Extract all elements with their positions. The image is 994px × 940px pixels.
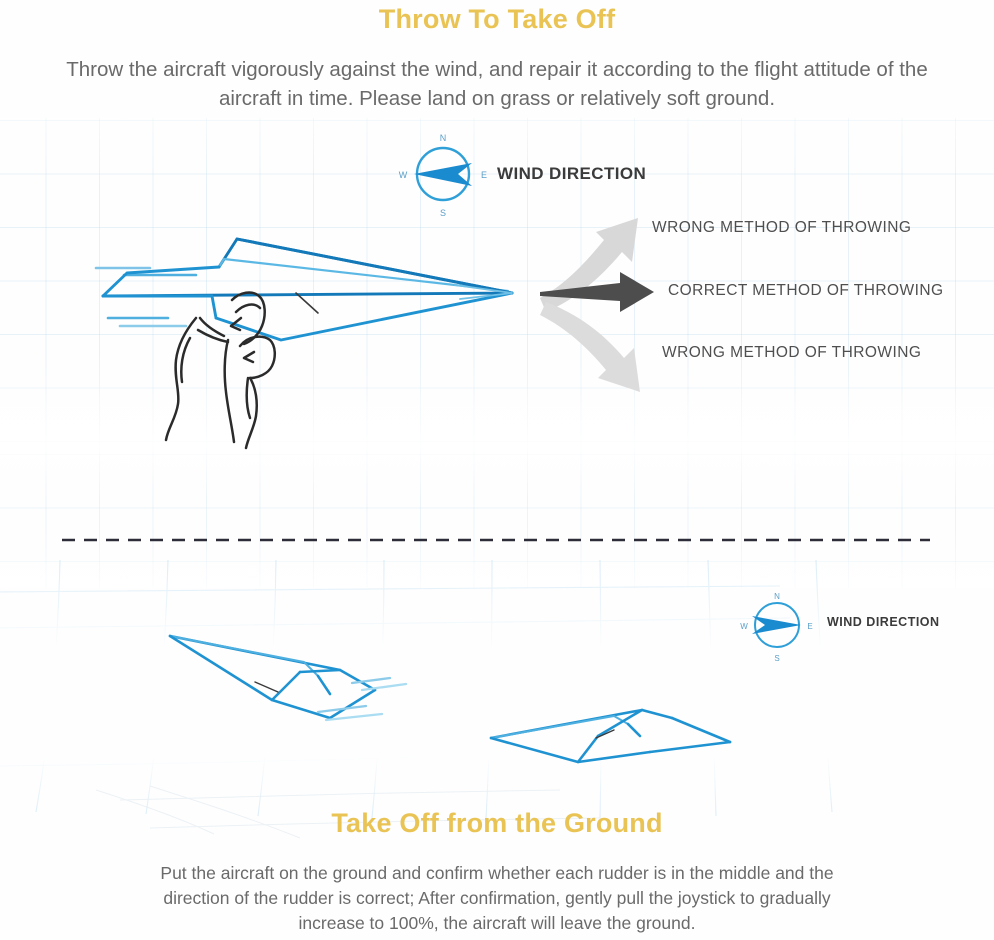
compass-south-label-top: S <box>440 208 446 218</box>
compass-needle-west <box>414 163 472 186</box>
compass-circle-bottom <box>755 603 799 647</box>
background-grid-middle <box>0 448 994 588</box>
wrong-method-label-lower: WRONG METHOD OF THROWING <box>662 344 921 362</box>
compass-needle-east <box>752 616 801 634</box>
ground-takeoff-instruction-paragraph: Put the aircraft on the ground and confi… <box>0 861 994 936</box>
page-title-throw-to-take-off: Throw To Take Off <box>0 4 994 35</box>
paper-plane-climbing <box>170 636 406 720</box>
arrow-straight <box>540 272 654 312</box>
wrong-method-label-upper: WRONG METHOD OF THROWING <box>652 219 911 237</box>
compass-south-label-bottom: S <box>774 654 779 663</box>
illustration-layer: N S W E N S W E <box>0 0 994 940</box>
hand-outline <box>166 293 275 448</box>
throwing-arrows <box>540 218 654 392</box>
compass-west-label-bottom: W <box>740 622 748 631</box>
compass-west-label-top: W <box>399 170 408 180</box>
page-title-take-off-from-ground: Take Off from the Ground <box>0 808 994 839</box>
paper-plane-top <box>103 239 512 340</box>
wind-direction-label-top: WIND DIRECTION <box>497 164 646 184</box>
correct-method-label: CORRECT METHOD OF THROWING <box>668 282 943 300</box>
compass-north-label-top: N <box>440 133 447 143</box>
motion-speed-lines <box>96 268 196 326</box>
compass-north-label-bottom: N <box>774 592 780 601</box>
compass-circle-top <box>417 148 469 200</box>
compass-east-label-top: E <box>481 170 487 180</box>
instruction-page: N S W E N S W E Throw To Take Off Throw … <box>0 0 994 940</box>
paper-plane-level <box>491 710 730 762</box>
grid-middle-fade-overlay <box>0 448 994 588</box>
compass-east-label-bottom: E <box>807 622 812 631</box>
throw-instruction-paragraph: Throw the aircraft vigorously against th… <box>0 55 994 113</box>
wind-direction-label-bottom: WIND DIRECTION <box>827 615 940 629</box>
arrow-curved-up <box>540 218 638 312</box>
wind-compass-bottom: N S W E <box>740 592 812 663</box>
wind-compass-top: N S W E <box>399 133 487 218</box>
perspective-ground-grid <box>0 560 832 818</box>
arrow-curved-down <box>540 302 640 392</box>
hand-throwing-paper-plane <box>96 239 512 448</box>
